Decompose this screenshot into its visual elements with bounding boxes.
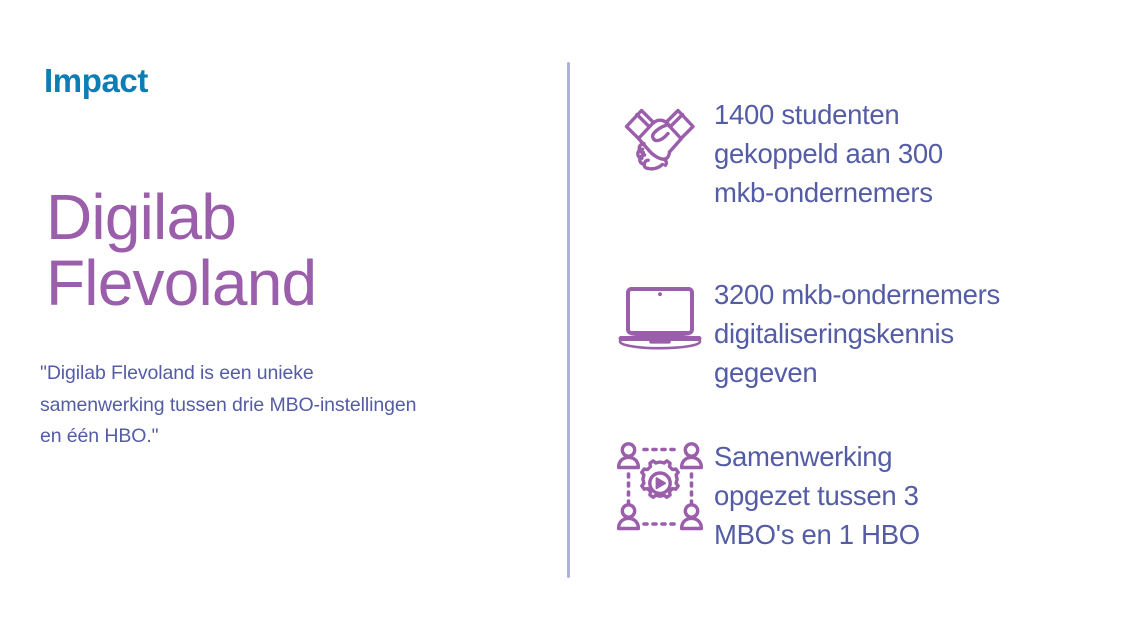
stat-item: 3200 mkb-ondernemers digitaliseringskenn… [610,275,1140,392]
vertical-divider [567,62,570,578]
stat-item: 1400 studenten gekoppeld aan 300 mkb-ond… [610,95,1140,212]
slide-canvas: Impact Digilab Flevoland "Digilab Flevol… [0,0,1140,641]
quote-line-3: en één HBO." [40,421,540,453]
stat-line: mkb-ondernemers [714,173,1140,212]
stat-text: 3200 mkb-ondernemers digitaliseringskenn… [710,275,1140,392]
stat-line: 1400 studenten [714,95,1140,134]
stat-line: gegeven [714,353,1140,392]
project-title-line-1: Digilab [46,185,316,251]
stat-line: Samenwerking [714,437,1140,476]
person-glyph [619,505,639,529]
stat-line: digitaliseringskennis [714,314,1140,353]
stat-item: Samenwerking opgezet tussen 3 MBO's en 1… [610,437,1140,554]
left-column: Impact Digilab Flevoland "Digilab Flevol… [44,0,544,641]
gear-glyph [642,461,678,497]
stat-line: gekoppeld aan 300 [714,134,1140,173]
person-glyph [682,444,702,468]
page-title: Impact [44,63,148,99]
handshake-icon [610,95,710,179]
quote-line-2: samenwerking tussen drie MBO-instellinge… [40,390,540,422]
right-column: 1400 studenten gekoppeld aan 300 mkb-ond… [610,0,1140,641]
project-title: Digilab Flevoland [46,185,316,317]
laptop-icon [610,275,710,355]
stat-line: opgezet tussen 3 [714,476,1140,515]
project-title-line-2: Flevoland [46,251,316,317]
stat-line: MBO's en 1 HBO [714,515,1140,554]
collaboration-network-icon [610,437,710,535]
stat-line: 3200 mkb-ondernemers [714,275,1140,314]
quote-line-1: "Digilab Flevoland is een unieke [40,358,540,390]
person-glyph [682,505,702,529]
person-glyph [619,444,639,468]
quote-text: "Digilab Flevoland is een unieke samenwe… [40,358,540,453]
stat-text: 1400 studenten gekoppeld aan 300 mkb-ond… [710,95,1140,212]
stat-text: Samenwerking opgezet tussen 3 MBO's en 1… [710,437,1140,554]
